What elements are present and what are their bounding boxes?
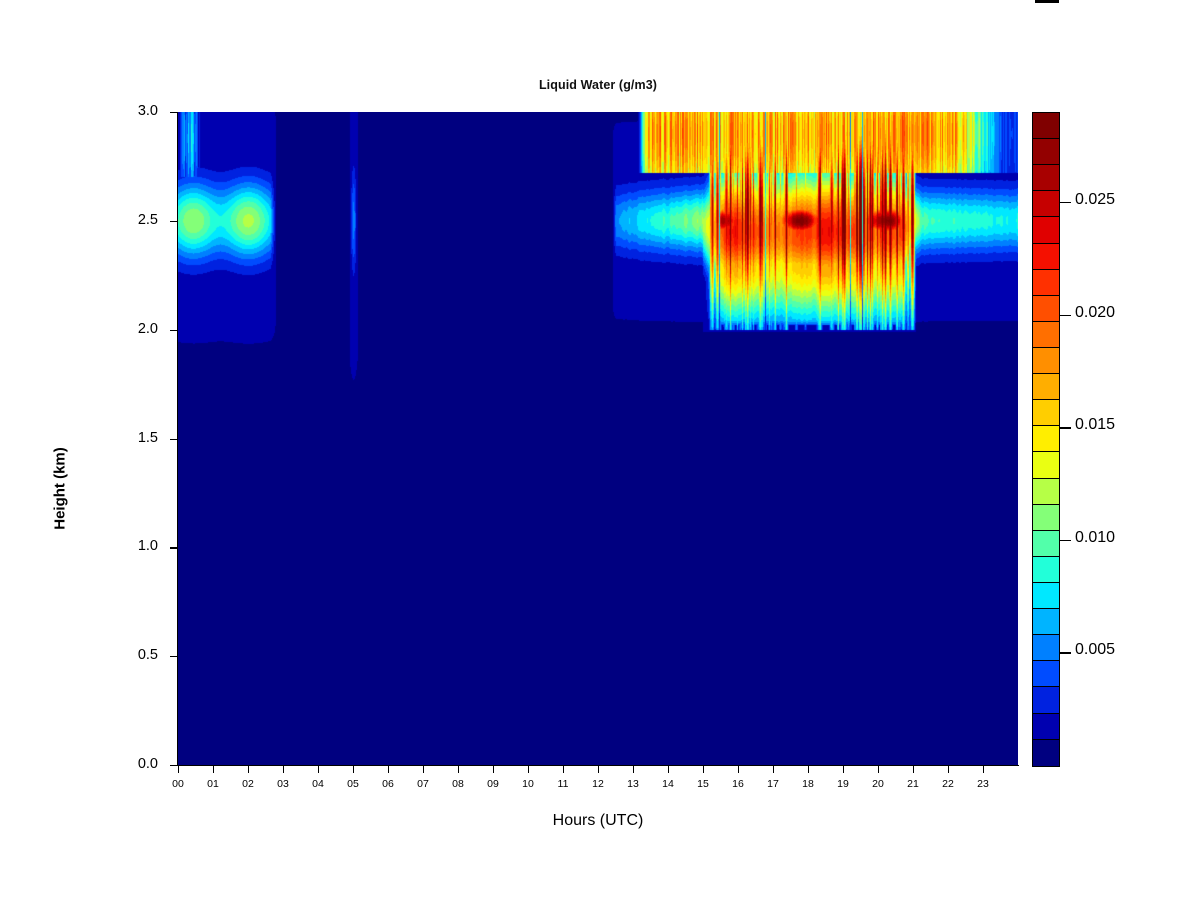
y-axis-title: Height (km) bbox=[52, 409, 69, 569]
colorbar-cell bbox=[1033, 400, 1059, 426]
x-tick-mark bbox=[983, 766, 984, 773]
x-tick-mark bbox=[178, 766, 179, 773]
colorbar-tick-mark bbox=[1060, 315, 1071, 316]
y-tick-label: 0.0 bbox=[96, 756, 158, 772]
x-tick-mark bbox=[248, 766, 249, 773]
x-tick-label: 06 bbox=[371, 778, 405, 790]
y-tick-label: 3.0 bbox=[96, 103, 158, 119]
colorbar-cell bbox=[1033, 583, 1059, 609]
x-tick-mark bbox=[388, 766, 389, 773]
colorbar-cell bbox=[1033, 348, 1059, 374]
x-tick-label: 12 bbox=[581, 778, 615, 790]
x-tick-label: 00 bbox=[161, 778, 195, 790]
heatmap-plot-area bbox=[178, 112, 1018, 765]
colorbar-tick-label: 0.005 bbox=[1075, 641, 1115, 659]
x-tick-label: 11 bbox=[546, 778, 580, 790]
x-axis-title: Hours (UTC) bbox=[178, 812, 1018, 830]
colorbar-cell bbox=[1033, 191, 1059, 217]
x-tick-mark bbox=[633, 766, 634, 773]
heatmap-canvas bbox=[178, 112, 1018, 765]
x-tick-label: 08 bbox=[441, 778, 475, 790]
colorbar-cell bbox=[1033, 374, 1059, 400]
x-tick-label: 14 bbox=[651, 778, 685, 790]
y-tick-label: 1.5 bbox=[96, 430, 158, 446]
x-tick-mark bbox=[213, 766, 214, 773]
colorbar-cell bbox=[1033, 322, 1059, 348]
x-tick-label: 13 bbox=[616, 778, 650, 790]
colorbar-cell bbox=[1033, 244, 1059, 270]
colorbar-cell bbox=[1033, 139, 1059, 165]
colorbar-tick-mark bbox=[1060, 540, 1071, 541]
colorbar-cell bbox=[1033, 426, 1059, 452]
y-tick-label: 2.5 bbox=[96, 212, 158, 228]
x-tick-label: 15 bbox=[686, 778, 720, 790]
x-tick-mark bbox=[808, 766, 809, 773]
x-tick-label: 03 bbox=[266, 778, 300, 790]
colorbar-cell bbox=[1033, 609, 1059, 635]
colorbar-tick-mark bbox=[1060, 202, 1071, 203]
x-tick-mark bbox=[773, 766, 774, 773]
y-tick-label: 0.5 bbox=[96, 647, 158, 663]
x-tick-mark bbox=[843, 766, 844, 773]
x-tick-mark bbox=[353, 766, 354, 773]
colorbar-cell bbox=[1033, 740, 1059, 766]
colorbar-cell bbox=[1033, 270, 1059, 296]
y-tick-label: 2.0 bbox=[96, 321, 158, 337]
colorbar-cell bbox=[1033, 113, 1059, 139]
x-tick-mark bbox=[528, 766, 529, 773]
y-tick-mark bbox=[170, 330, 177, 331]
x-tick-mark bbox=[948, 766, 949, 773]
x-tick-label: 02 bbox=[231, 778, 265, 790]
x-tick-label: 22 bbox=[931, 778, 965, 790]
x-tick-mark bbox=[458, 766, 459, 773]
colorbar-cell bbox=[1033, 505, 1059, 531]
x-tick-mark bbox=[283, 766, 284, 773]
top-edge-artifact bbox=[1035, 0, 1059, 3]
x-tick-label: 21 bbox=[896, 778, 930, 790]
colorbar-tick-mark bbox=[1060, 427, 1071, 428]
colorbar-tick-label: 0.015 bbox=[1075, 416, 1115, 434]
x-tick-label: 19 bbox=[826, 778, 860, 790]
colorbar-cell bbox=[1033, 296, 1059, 322]
x-tick-label: 20 bbox=[861, 778, 895, 790]
colorbar-cell bbox=[1033, 714, 1059, 740]
liquid-water-heatmap-figure: Liquid Water (g/m3) 00010203040506070809… bbox=[0, 0, 1200, 900]
colorbar-cell bbox=[1033, 531, 1059, 557]
colorbar-tick-label: 0.010 bbox=[1075, 529, 1115, 547]
y-tick-mark bbox=[170, 221, 177, 222]
x-tick-mark bbox=[668, 766, 669, 773]
x-tick-label: 16 bbox=[721, 778, 755, 790]
x-tick-label: 04 bbox=[301, 778, 335, 790]
x-tick-label: 18 bbox=[791, 778, 825, 790]
colorbar-cell bbox=[1033, 452, 1059, 478]
x-tick-label: 07 bbox=[406, 778, 440, 790]
y-tick-mark bbox=[170, 439, 177, 440]
colorbar bbox=[1032, 112, 1060, 767]
x-tick-label: 09 bbox=[476, 778, 510, 790]
x-tick-label: 05 bbox=[336, 778, 370, 790]
colorbar-cell bbox=[1033, 217, 1059, 243]
x-tick-mark bbox=[423, 766, 424, 773]
colorbar-cell bbox=[1033, 687, 1059, 713]
x-tick-label: 01 bbox=[196, 778, 230, 790]
x-tick-mark bbox=[598, 766, 599, 773]
colorbar-tick-label: 0.025 bbox=[1075, 191, 1115, 209]
page-title: Liquid Water (g/m3) bbox=[178, 78, 1018, 92]
y-tick-mark bbox=[170, 656, 177, 657]
x-tick-mark bbox=[913, 766, 914, 773]
x-tick-label: 23 bbox=[966, 778, 1000, 790]
y-tick-mark bbox=[170, 112, 177, 113]
colorbar-cell bbox=[1033, 479, 1059, 505]
x-tick-mark bbox=[563, 766, 564, 773]
y-tick-label: 1.0 bbox=[96, 538, 158, 554]
colorbar-tick-mark bbox=[1060, 652, 1071, 653]
x-tick-label: 10 bbox=[511, 778, 545, 790]
colorbar-cell bbox=[1033, 635, 1059, 661]
colorbar-tick-label: 0.020 bbox=[1075, 304, 1115, 322]
colorbar-cell bbox=[1033, 557, 1059, 583]
x-tick-mark bbox=[878, 766, 879, 773]
x-tick-mark bbox=[493, 766, 494, 773]
x-tick-mark bbox=[738, 766, 739, 773]
y-tick-mark bbox=[170, 765, 177, 766]
x-tick-mark bbox=[318, 766, 319, 773]
y-tick-mark bbox=[170, 547, 177, 548]
x-tick-mark bbox=[703, 766, 704, 773]
colorbar-cell bbox=[1033, 165, 1059, 191]
x-tick-label: 17 bbox=[756, 778, 790, 790]
colorbar-cell bbox=[1033, 661, 1059, 687]
y-axis-line bbox=[177, 112, 178, 766]
